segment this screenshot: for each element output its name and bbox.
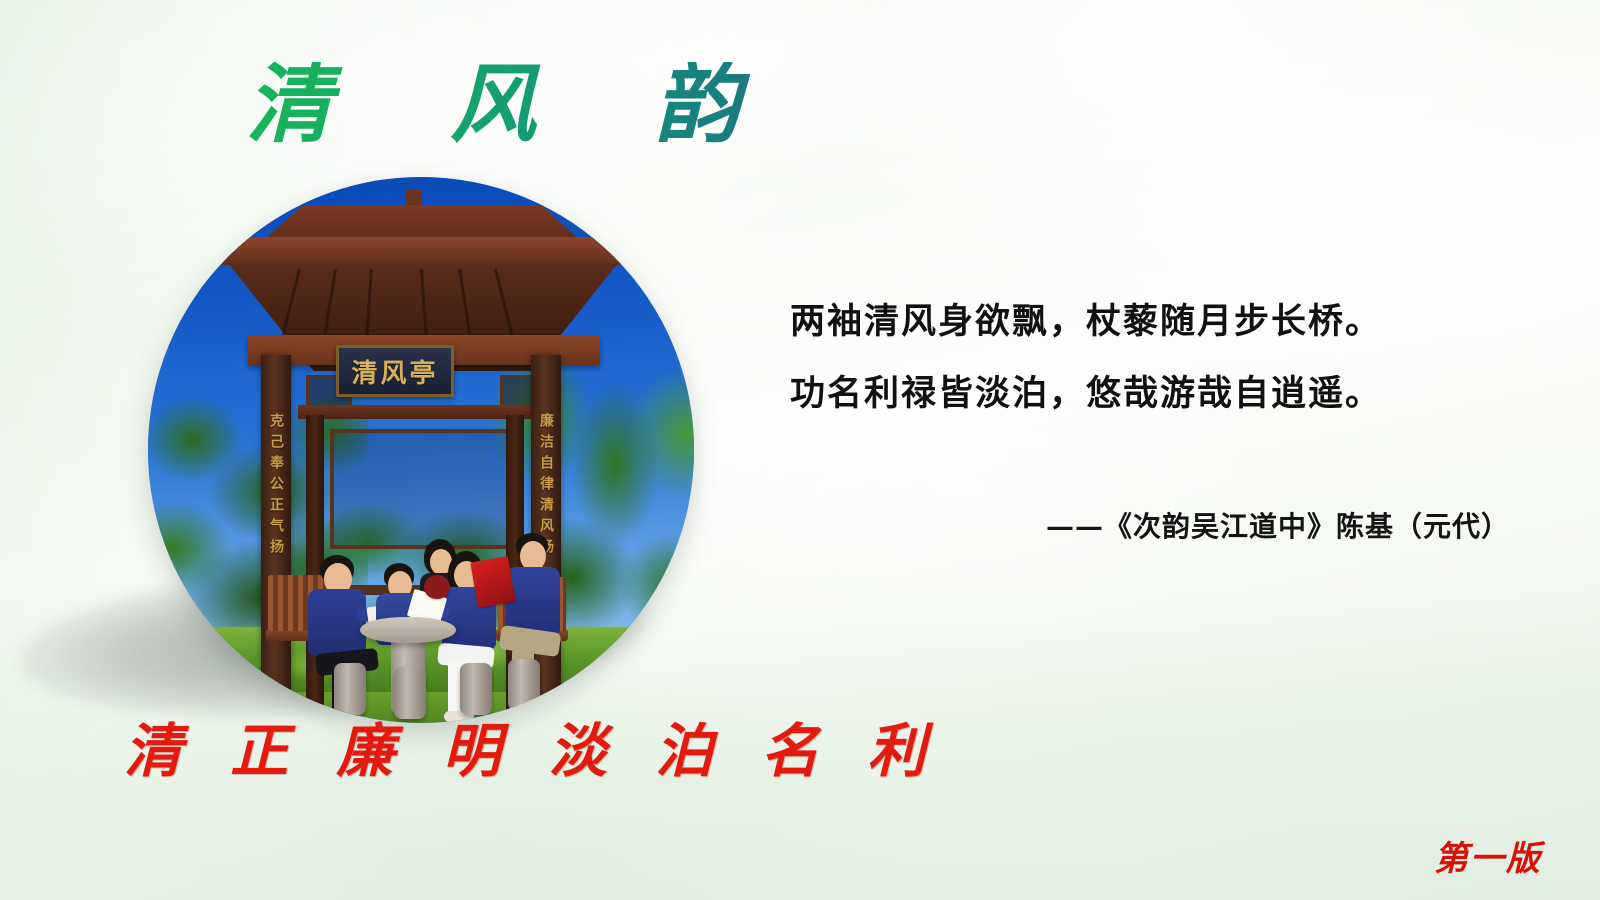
poem-attribution: ——《次韵吴江道中》陈基（元代） [790, 505, 1510, 545]
edition-badge: 第一版 [1434, 831, 1542, 880]
photo-lattice-panel [330, 429, 518, 549]
photo-roof-beam [206, 237, 638, 265]
poem-line-1: 两袖清风身欲飘，杖藜随月步长桥。 [790, 286, 1430, 358]
poem-block: 两袖清风身欲飘，杖藜随月步长桥。 功名利禄皆淡泊，悠哉游哉自逍遥。 [790, 286, 1430, 430]
slogan-text: 清 正 廉 明 淡 泊 名 利 [124, 704, 939, 788]
photo-stone-table [360, 617, 456, 643]
poster-canvas: 清 风 韵 清风亭 [0, 0, 1600, 900]
photo-plaque: 清风亭 [336, 345, 454, 397]
photo-plaque-text: 清风亭 [351, 353, 438, 390]
photo-couplet-left: 克己奉公正气扬 [261, 413, 291, 560]
poem-line-2: 功名利禄皆淡泊，悠哉游哉自逍遥。 [790, 358, 1430, 430]
photo-pillar-left: 克己奉公正气扬 [261, 355, 291, 723]
pavilion-photo: 清风亭 克己奉公正气扬 廉洁自律清风扬 [148, 177, 694, 723]
page-title: 清 风 韵 [246, 62, 784, 148]
